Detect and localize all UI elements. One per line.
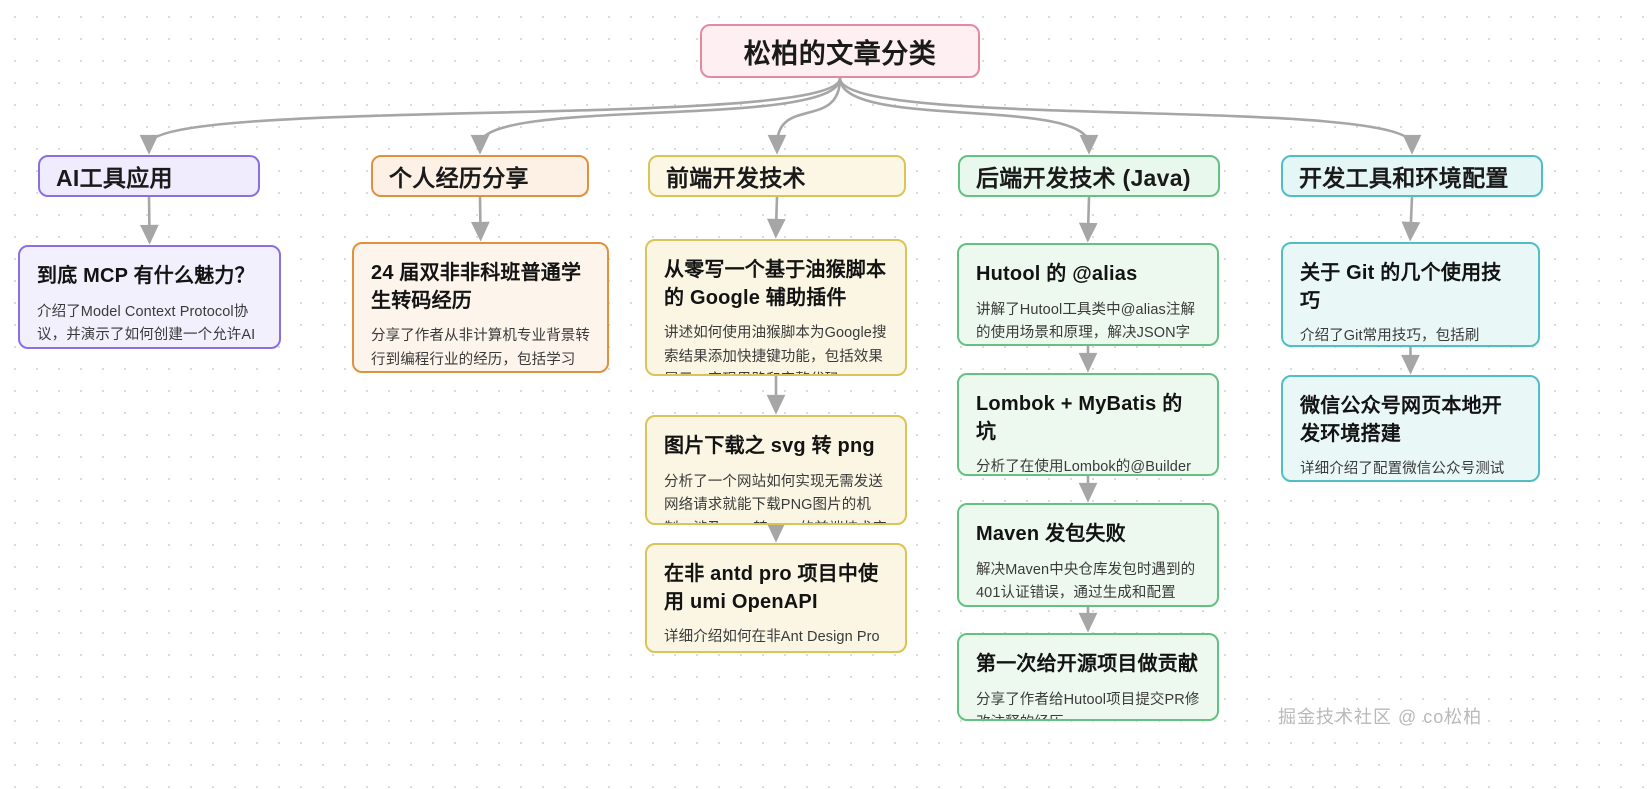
article-card-title: Maven 发包失败 [976, 521, 1200, 549]
article-card-description: 分享了作者给Hutool项目提交PR修改注释的经历。 [976, 689, 1200, 721]
article-card-description: 讲解了Hutool工具类中@alias注解的使用场景和原理，解决JSON字段命名… [976, 299, 1200, 346]
category-node-label: AI工具应用 [56, 159, 173, 193]
article-card[interactable]: 在非 antd pro 项目中使用 umi OpenAPI详细介绍如何在非Ant… [645, 543, 907, 653]
article-card-description: 分享了作者从非计算机专业背景转行到编程行业的经历，包括学习Java后端、实习经验… [371, 325, 590, 373]
connector-edge [1411, 197, 1413, 232]
connector-edge [776, 197, 777, 229]
article-card[interactable]: Lombok + MyBatis 的坑分析了在使用Lombok的@Builder… [957, 373, 1219, 476]
connector-edge [480, 197, 481, 232]
article-card-title: 从零写一个基于油猴脚本的 Google 辅助插件 [664, 257, 888, 312]
category-node-label: 后端开发技术 (Java) [976, 159, 1191, 193]
article-card-title: 关于 Git 的几个使用技巧 [1300, 260, 1521, 315]
article-card-description: 详细介绍了配置微信公众号测试号、内网穿透和本地开发调试的完整流程 [1300, 458, 1521, 482]
root-node[interactable]: 松柏的文章分类 [700, 24, 980, 78]
article-card[interactable]: 第一次给开源项目做贡献分享了作者给Hutool项目提交PR修改注释的经历。 [957, 633, 1219, 721]
article-card-description: 介绍了Git常用技巧，包括刷新.gitignore、强行合并历史和版本回退等 [1300, 325, 1521, 347]
category-node-ai-tools[interactable]: AI工具应用 [38, 155, 260, 197]
article-card-title: 24 届双非非科班普通学生转码经历 [371, 260, 590, 315]
article-card[interactable]: 关于 Git 的几个使用技巧介绍了Git常用技巧，包括刷新.gitignore、… [1281, 242, 1540, 347]
connector-edge [777, 78, 840, 145]
article-card-description: 解决Maven中央仓库发包时遇到的401认证错误，通过生成和配置token解决问… [976, 559, 1200, 607]
article-card-title: Hutool 的 @alias [976, 261, 1200, 289]
connector-edge [840, 78, 1412, 145]
article-card-title: Lombok + MyBatis 的坑 [976, 391, 1200, 446]
category-node-frontend[interactable]: 前端开发技术 [648, 155, 906, 197]
article-card-title: 在非 antd pro 项目中使用 umi OpenAPI [664, 561, 888, 616]
article-card-description: 分析了一个网站如何实现无需发送网络请求就能下载PNG图片的机制，涉及SVG转PN… [664, 471, 888, 525]
connector-edge [1088, 197, 1089, 233]
connector-edge [840, 78, 1089, 145]
category-node-backend-java[interactable]: 后端开发技术 (Java) [958, 155, 1220, 197]
category-node-label: 开发工具和环境配置 [1299, 159, 1509, 193]
category-node-label: 个人经历分享 [389, 159, 529, 193]
article-card-title: 图片下载之 svg 转 png [664, 433, 888, 461]
article-card[interactable]: 24 届双非非科班普通学生转码经历分享了作者从非计算机专业背景转行到编程行业的经… [352, 242, 609, 373]
article-card-title: 微信公众号网页本地开发环境搭建 [1300, 393, 1521, 448]
article-card-description: 介绍了Model Context Protocol协议，并演示了如何创建一个允许… [37, 301, 262, 349]
connector-edge [480, 78, 840, 145]
article-card[interactable]: Maven 发包失败解决Maven中央仓库发包时遇到的401认证错误，通过生成和… [957, 503, 1219, 607]
category-node-devtools-env[interactable]: 开发工具和环境配置 [1281, 155, 1543, 197]
category-node-personal-experience[interactable]: 个人经历分享 [371, 155, 589, 197]
article-card-title: 第一次给开源项目做贡献 [976, 651, 1200, 679]
category-node-label: 前端开发技术 [666, 159, 806, 193]
article-card[interactable]: 从零写一个基于油猴脚本的 Google 辅助插件讲述如何使用油猴脚本为Googl… [645, 239, 907, 376]
article-card[interactable]: 图片下载之 svg 转 png分析了一个网站如何实现无需发送网络请求就能下载PN… [645, 415, 907, 525]
connector-edge [149, 78, 840, 145]
article-card-title: 到底 MCP 有什么魅力？ [37, 263, 262, 291]
mindmap-canvas: 松柏的文章分类 AI工具应用到底 MCP 有什么魅力？介绍了Model Cont… [0, 0, 1650, 789]
root-node-label: 松柏的文章分类 [744, 32, 937, 71]
watermark: 掘金技术社区 @ co松柏 [1278, 703, 1482, 729]
article-card[interactable]: 微信公众号网页本地开发环境搭建详细介绍了配置微信公众号测试号、内网穿透和本地开发… [1281, 375, 1540, 482]
connector-edge [149, 197, 150, 235]
article-card-description: 分析了在使用Lombok的@Builder注解与MyBatis结合时可能遇到的问… [976, 456, 1200, 476]
article-card[interactable]: Hutool 的 @alias讲解了Hutool工具类中@alias注解的使用场… [957, 243, 1219, 346]
article-card-description: 讲述如何使用油猴脚本为Google搜索结果添加快捷键功能，包括效果展示、实现思路… [664, 322, 888, 376]
article-card[interactable]: 到底 MCP 有什么魅力？介绍了Model Context Protocol协议… [18, 245, 281, 349]
article-card-description: 详细介绍如何在非Ant Design Pro项目中配置和使用 umi OpenA… [664, 626, 888, 653]
